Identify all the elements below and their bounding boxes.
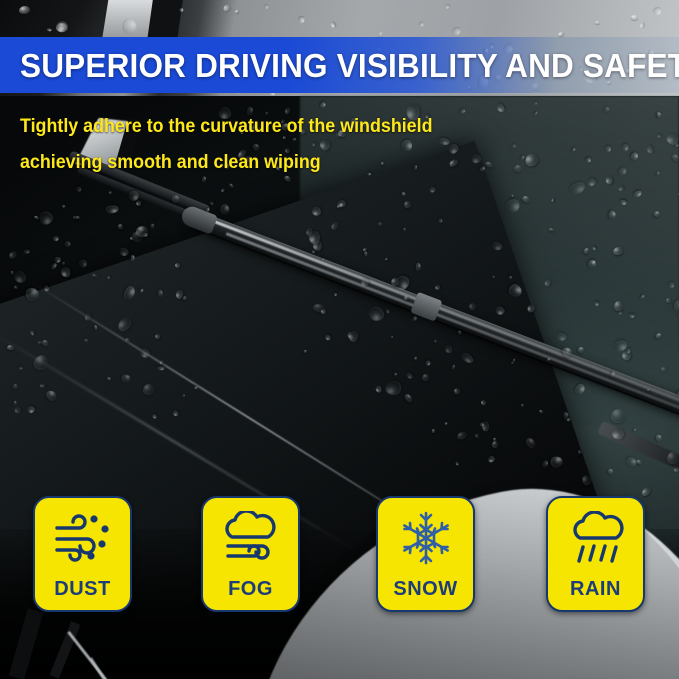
feature-badge-label: RAIN — [548, 578, 643, 601]
feature-badge-label: FOG — [203, 578, 298, 601]
feature-badge-dust[interactable]: DUST — [33, 496, 132, 612]
feature-badge-snow[interactable]: SNOW — [376, 496, 475, 612]
feature-badge-fog[interactable]: FOG — [201, 496, 300, 612]
feature-badge-label: SNOW — [378, 578, 473, 601]
cloud-fog-icon — [220, 509, 282, 567]
headline-title: SUPERIOR DRIVING VISIBILITY AND SAFETY — [20, 37, 679, 93]
wind-dust-icon — [53, 509, 113, 567]
cloud-rain-icon — [566, 509, 626, 567]
subtitle-line-2: achieving smooth and clean wiping — [20, 152, 321, 174]
product-feature-image: SUPERIOR DRIVING VISIBILITY AND SAFETY T… — [0, 0, 679, 679]
subtitle-line-1: Tightly adhere to the curvature of the w… — [20, 116, 432, 138]
headline-banner: SUPERIOR DRIVING VISIBILITY AND SAFETY — [0, 37, 679, 93]
snowflake-icon — [397, 509, 455, 567]
pillar-dark-strip — [147, 0, 183, 40]
feature-badge-rain[interactable]: RAIN — [546, 496, 645, 612]
feature-badge-label: DUST — [35, 578, 130, 601]
feature-badge-row: DUST FOG — [0, 496, 679, 616]
